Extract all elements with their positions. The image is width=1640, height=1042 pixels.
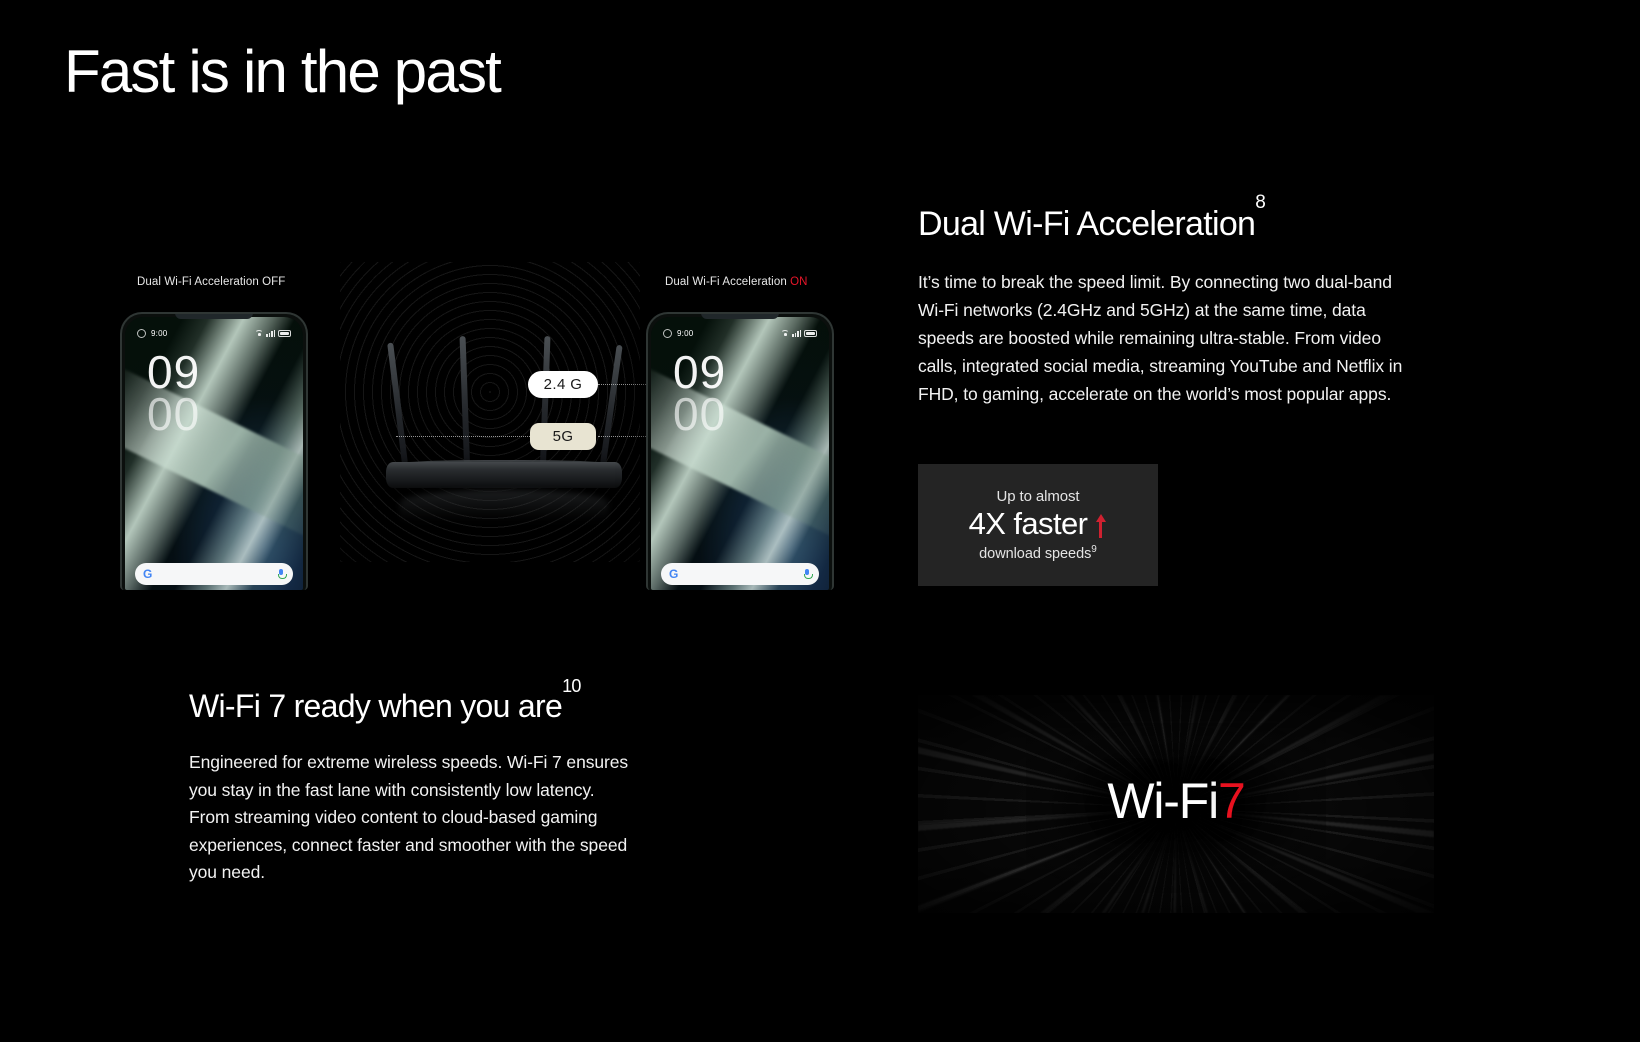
caption-acceleration-on: Dual Wi-Fi Acceleration ON: [665, 276, 808, 288]
stat-badge-download-speed: Up to almost 4X faster download speeds9: [918, 464, 1158, 586]
router-reflection: [400, 490, 608, 532]
caption-on-prefix: Dual Wi-Fi Acceleration: [665, 276, 790, 288]
caption-acceleration-off: Dual Wi-Fi Acceleration OFF: [137, 276, 285, 288]
battery-icon: [804, 330, 817, 337]
signal-bars-icon: [792, 330, 801, 337]
signal-bars-icon: [266, 330, 275, 337]
connector-line-5g-left: [396, 436, 530, 437]
stat-badge-value: 4X faster: [969, 508, 1088, 541]
stat-badge-main: 4X faster: [969, 508, 1108, 541]
band-label-5g: 5G: [530, 423, 596, 450]
google-logo-icon: G: [669, 568, 678, 580]
router-graphic: [386, 448, 622, 488]
status-time-left: 9:00: [151, 329, 167, 338]
lockscreen-clock-right: 09 00: [673, 351, 726, 436]
wifi7-text-block: Wi-Fi 7 ready when you are10 Engineered …: [189, 688, 749, 887]
wifi7-title: Wi-Fi 7 ready when you are10: [189, 688, 749, 725]
battery-icon: [278, 330, 291, 337]
phone-screen-left: 9:00 09 00 G: [125, 317, 303, 590]
google-logo-icon: G: [143, 568, 152, 580]
dual-wifi-text-block: Dual Wi-Fi Acceleration8 It’s time to br…: [918, 205, 1418, 408]
stat-badge-top-label: Up to almost: [997, 488, 1080, 505]
stat-badge-footnote-marker: 9: [1091, 544, 1097, 555]
caption-on-state: ON: [790, 276, 807, 288]
wifi7-logo-text: Wi-Fi: [1107, 773, 1218, 829]
stat-badge-sub-label: download speeds9: [979, 544, 1097, 562]
clock-minutes-left: 00: [147, 393, 200, 435]
wifi-icon: [781, 330, 789, 336]
status-bar-right: 9:00: [651, 326, 829, 340]
dual-wifi-footnote-marker: 8: [1255, 192, 1265, 213]
phone-mockup-right: 9:00 09 00 G: [646, 312, 834, 590]
dual-wifi-hero-visual: Dual Wi-Fi Acceleration OFF Dual Wi-Fi A…: [90, 262, 880, 592]
phone-mockup-left: 9:00 09 00 G: [120, 312, 308, 590]
router-body: [386, 462, 622, 488]
microphone-icon[interactable]: [278, 569, 285, 580]
band-label-24g: 2.4 G: [528, 371, 598, 398]
wifi7-title-text: Wi-Fi 7 ready when you are: [189, 688, 562, 724]
arrow-up-icon: [1094, 510, 1107, 540]
stat-badge-sub-text: download speeds: [979, 546, 1091, 562]
wifi7-logo: Wi-Fi7: [918, 776, 1434, 826]
phone-screen-right: 9:00 09 00 G: [651, 317, 829, 590]
status-time-right: 9:00: [677, 329, 693, 338]
camera-punchhole-icon: [663, 329, 672, 338]
status-bar-left: 9:00: [125, 326, 303, 340]
camera-punchhole-icon: [137, 329, 146, 338]
microphone-icon[interactable]: [804, 569, 811, 580]
wifi7-logo-number: 7: [1218, 773, 1245, 829]
wifi7-footnote-marker: 10: [562, 676, 581, 696]
google-search-bar-left[interactable]: G: [135, 563, 293, 585]
wifi7-body: Engineered for extreme wireless speeds. …: [189, 749, 629, 887]
clock-minutes-right: 00: [673, 393, 726, 435]
phone-notch-left: [175, 312, 253, 319]
wifi7-speed-tunnel-visual: Wi-Fi7: [918, 695, 1434, 913]
google-search-bar-right[interactable]: G: [661, 563, 819, 585]
dual-wifi-body: It’s time to break the speed limit. By c…: [918, 268, 1418, 408]
dual-wifi-title-text: Dual Wi-Fi Acceleration: [918, 205, 1255, 243]
phone-notch-right: [701, 312, 779, 319]
wifi-icon: [255, 330, 263, 336]
lockscreen-clock-left: 09 00: [147, 351, 200, 436]
page-title: Fast is in the past: [64, 40, 500, 103]
dual-wifi-title: Dual Wi-Fi Acceleration8: [918, 205, 1418, 244]
